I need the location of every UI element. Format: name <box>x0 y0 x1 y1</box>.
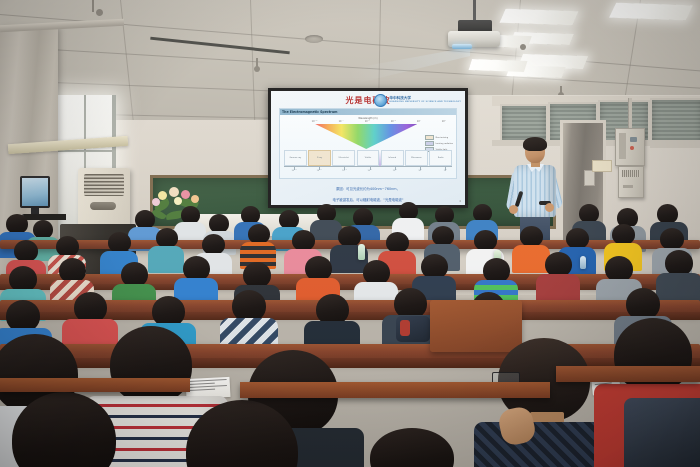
spectrum-tick: 10⁻³ <box>391 120 396 123</box>
spectrum-band: Infrared <box>381 150 404 166</box>
spectrum-band: Microwave <box>405 150 428 166</box>
bench-rail <box>240 382 550 398</box>
ceiling-light-panel <box>469 59 528 72</box>
spectrum-axis: 10⁻¹⁴ 10⁻¹¹ 10⁻⁸ 10⁻⁵ 10⁻² 10¹ 10⁴ <box>284 166 452 172</box>
axis-tick-label: 10⁻² <box>393 170 397 172</box>
backpack-strap <box>400 320 410 336</box>
axis-tick-label: 10⁻¹⁴ <box>291 170 296 172</box>
axis-tick-label: 10⁴ <box>444 170 447 172</box>
presenter-right-hand <box>545 203 554 212</box>
logo-text: 华中科技大学 HUAZHONG UNIVERSITY OF SCIENCE AN… <box>389 97 461 103</box>
projection-screen: 光是电磁波 华中科技大学 HUAZHONG UNIVERSITY OF SCIE… <box>268 88 468 208</box>
window-mullion <box>56 150 116 152</box>
sprinkler-head <box>520 44 526 50</box>
presentation-slide: 光是电磁波 华中科技大学 HUAZHONG UNIVERSITY OF SCIE… <box>271 91 465 205</box>
spectrum-tick: 10⁻⁹ <box>339 120 344 123</box>
university-logo: 华中科技大学 HUAZHONG UNIVERSITY OF SCIENCE AN… <box>374 94 461 107</box>
bench-rail <box>556 366 700 382</box>
monitor-screen <box>22 178 48 206</box>
axis-tick-label: 10⁻⁸ <box>342 170 346 172</box>
podium-shelf <box>24 214 66 220</box>
spectrum-diagram: The Electromagnetic Spectrum Wavelength … <box>279 108 457 179</box>
legend-label: Non-ionizing <box>436 137 448 139</box>
wall-notice <box>592 160 612 172</box>
electrical-panel-lower <box>618 166 644 198</box>
sprinkler-head <box>96 9 103 16</box>
logo-mark-icon <box>374 94 387 107</box>
spectrum-tick: 10³ <box>442 120 446 123</box>
spectrum-band: Ultraviolet <box>332 150 355 166</box>
lectern-monitor[interactable] <box>20 176 50 208</box>
electrical-panel-upper <box>615 128 645 166</box>
axis-tick-label: 10¹ <box>418 170 421 172</box>
logo-name: 华中科技大学 <box>389 96 411 100</box>
student-shoulder-bag <box>624 398 700 467</box>
lecture-hall-photo: 光是电磁波 华中科技大学 HUAZHONG UNIVERSITY OF SCIE… <box>0 0 700 467</box>
logo-subtitle: HUAZHONG UNIVERSITY OF SCIENCE AND TECHN… <box>389 101 461 103</box>
ceiling-vent <box>305 35 323 43</box>
air-conditioner-display <box>90 202 116 210</box>
window-right-blinds <box>500 104 548 142</box>
flower-arrangement <box>150 185 208 225</box>
axis-tick-label: 10⁻⁵ <box>367 170 371 172</box>
electrical-conduit <box>628 98 632 128</box>
air-conditioner-grill <box>84 174 124 196</box>
legend-item: Non-ionizing <box>425 135 453 140</box>
legend-swatch <box>425 141 434 146</box>
water-bottle <box>358 244 365 260</box>
projector-lens <box>452 44 472 49</box>
presenter-left-hand <box>509 205 518 214</box>
bench-apron <box>0 284 700 290</box>
presenter-hair <box>523 137 547 151</box>
sprinkler-stem <box>92 0 94 12</box>
slide-page-number: 4 <box>459 199 461 203</box>
spectrum-tick: 10⁻¹² <box>312 120 318 123</box>
door-sign <box>584 170 595 186</box>
sprinkler-stem <box>256 58 258 68</box>
legend-swatch <box>425 135 434 140</box>
spectrum-diagram-header: The Electromagnetic Spectrum <box>280 109 456 115</box>
bench-seat-back <box>430 300 522 352</box>
legend-item: Ionizing radiation <box>425 141 453 146</box>
projector-mount-rod <box>473 0 476 22</box>
spectrum-tick: 10⁰ <box>417 120 421 123</box>
visible-spectrum-triangle <box>315 124 417 149</box>
spectrum-band: Radio <box>429 150 452 166</box>
slide-caption-line-3: 电子被激发后，可以辐射电磁波，"光是电磁波" <box>271 197 465 202</box>
spectrum-band: Visible <box>357 150 380 166</box>
bench-rail <box>0 378 190 392</box>
spectrum-tick: 10⁻⁶ <box>365 120 370 123</box>
ceiling-light-panel <box>609 3 693 21</box>
water-bottle <box>580 256 586 269</box>
axis-tick-label: 10⁻¹¹ <box>317 170 322 172</box>
legend-label: Ionizing radiation <box>436 143 453 145</box>
spectrum-band-row: Gamma ray X-ray Ultraviolet Visible Infr… <box>284 150 452 166</box>
spectrum-tick-row: 10⁻¹² 10⁻⁹ 10⁻⁶ 10⁻³ 10⁰ 10³ <box>312 120 446 123</box>
spectrum-band: X-ray <box>308 150 331 166</box>
ceiling-light-panel <box>499 9 578 26</box>
spectrum-band: Gamma ray <box>284 150 307 166</box>
slide-caption-line-1: 原因：可见光波长约为400nm~760nm， <box>271 186 465 191</box>
